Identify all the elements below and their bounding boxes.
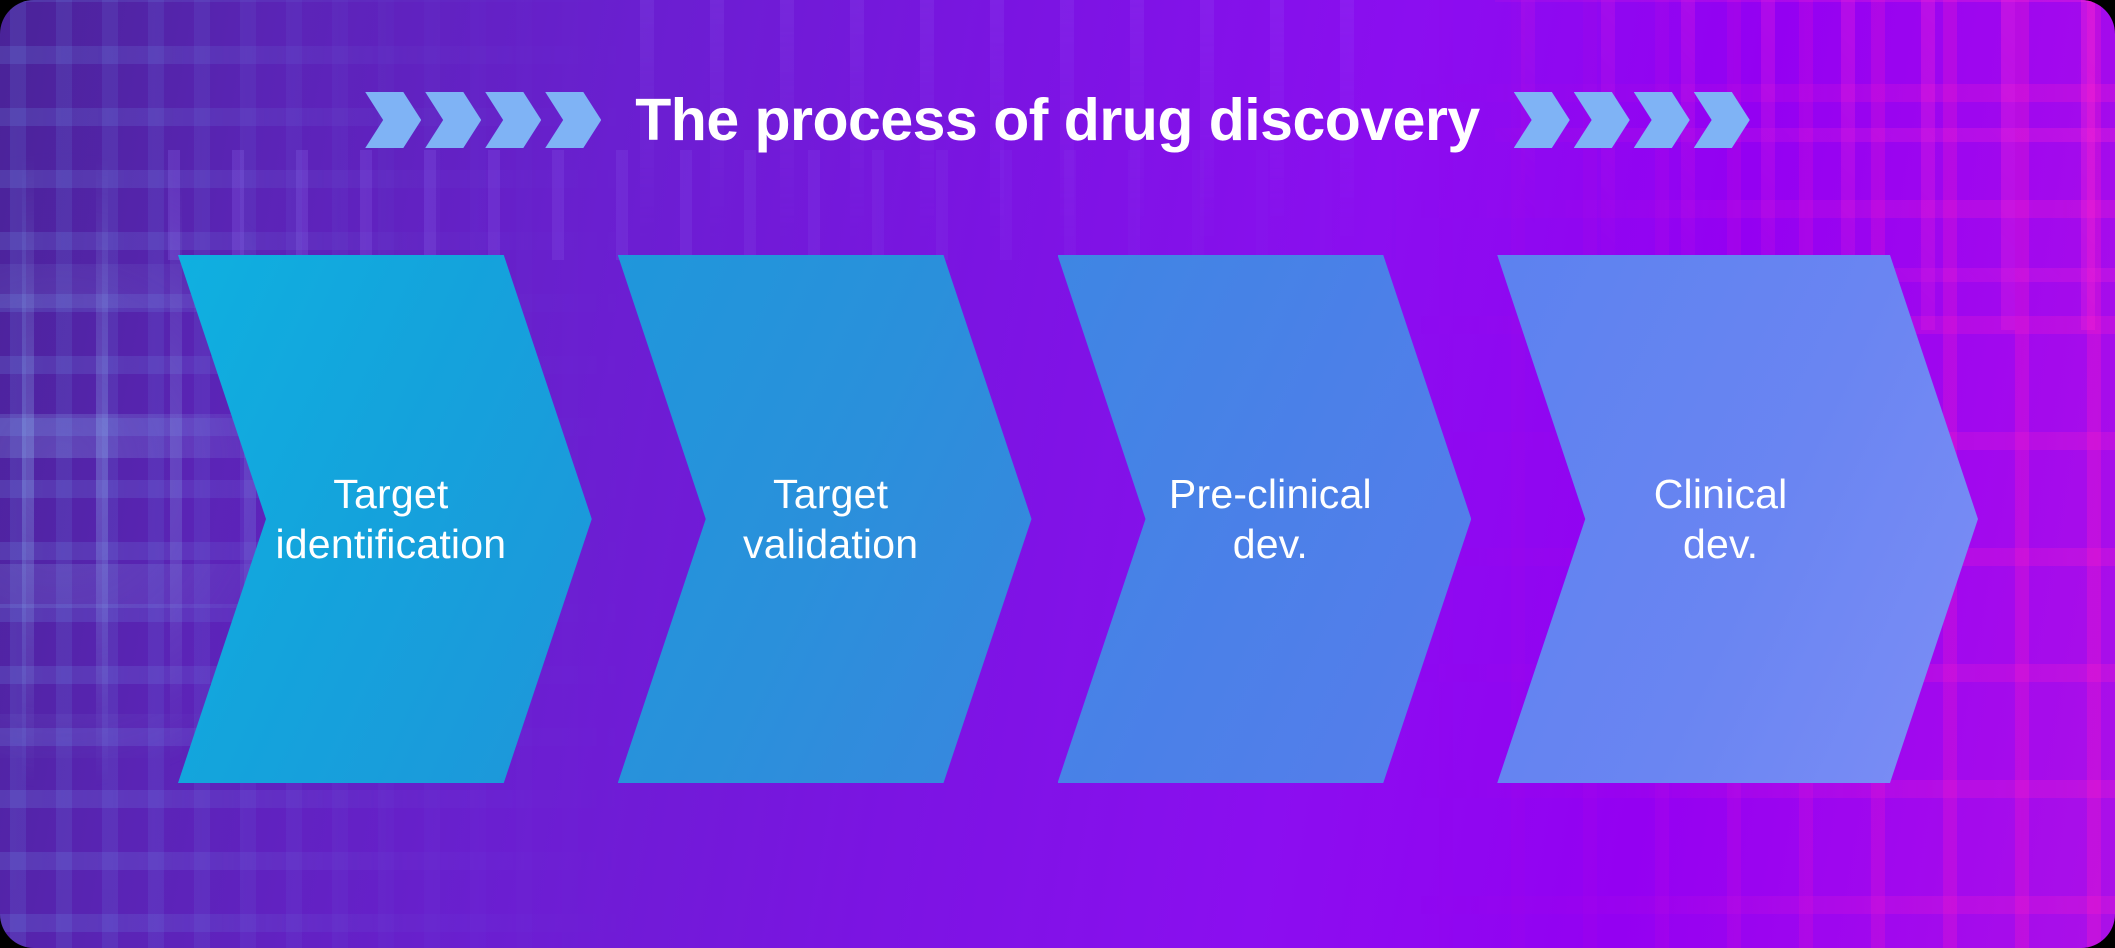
chevron-right-icon: [1694, 92, 1750, 148]
chevron-right-icon: [485, 92, 541, 148]
process-step-label: Clinical dev.: [1608, 469, 1868, 569]
chevron-right-icon: [545, 92, 601, 148]
page-title: The process of drug discovery: [635, 86, 1480, 154]
title-underline-texture: [150, 150, 1450, 260]
chevron-right-icon: [365, 92, 421, 148]
chevron-right-icon: [1574, 92, 1630, 148]
process-step-label: Target identification: [230, 469, 541, 569]
process-step-label: Target validation: [697, 469, 952, 569]
process-step-clinical-dev[interactable]: Clinical dev.: [1497, 255, 1978, 783]
process-step-target-validation[interactable]: Target validation: [618, 255, 1032, 783]
right-chevron-decoration: [1514, 92, 1750, 148]
header: The process of drug discovery: [0, 84, 2115, 156]
chevron-right-icon: [1514, 92, 1570, 148]
process-step-pre-clinical-dev[interactable]: Pre-clinical dev.: [1058, 255, 1472, 783]
process-step-target-identification[interactable]: Target identification: [178, 255, 592, 783]
chevron-right-icon: [1634, 92, 1690, 148]
infographic-canvas: The process of drug discovery Target ide…: [0, 0, 2115, 948]
process-step-label: Pre-clinical dev.: [1123, 469, 1406, 569]
chevron-right-icon: [425, 92, 481, 148]
process-flow: Target identification Target validation …: [178, 255, 1978, 783]
left-chevron-decoration: [365, 92, 601, 148]
